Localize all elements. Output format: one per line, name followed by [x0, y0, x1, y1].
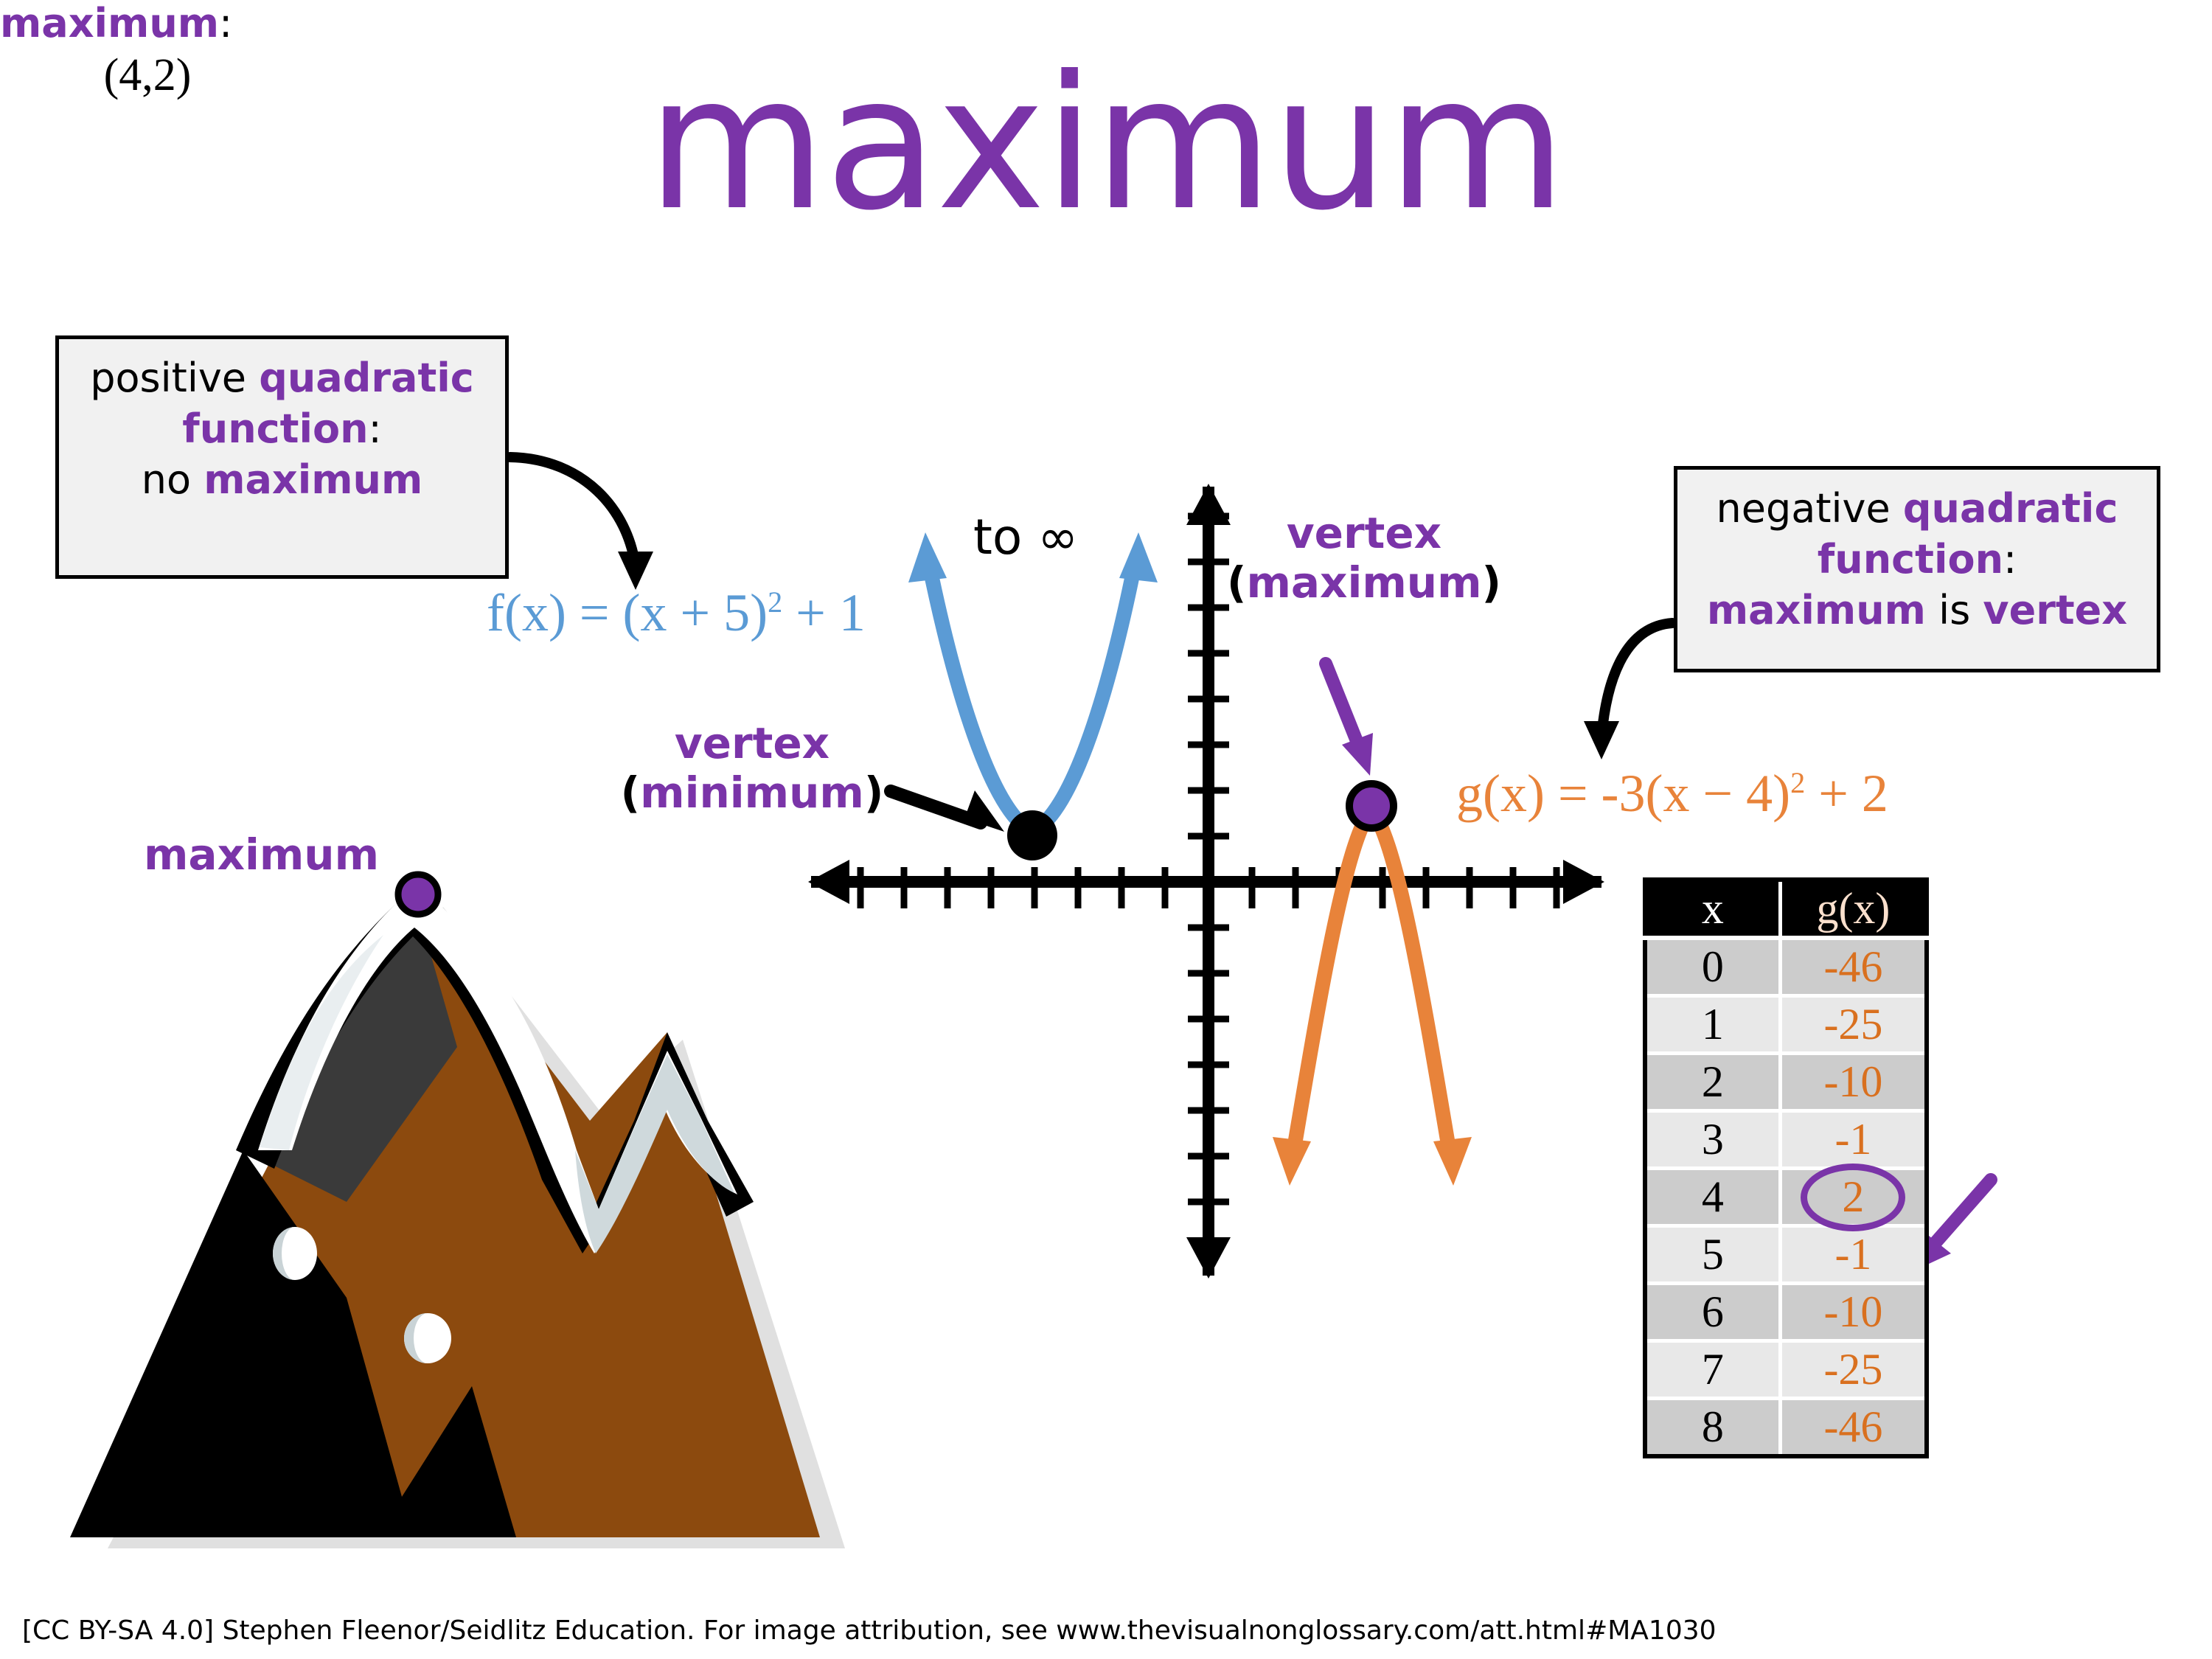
- poster-canvas: maximum positive quadratic function: no …: [0, 0, 2212, 1659]
- callout-right-line1-bold: quadratic: [1903, 485, 2118, 532]
- vertex-max-line1: vertex: [1287, 508, 1441, 558]
- page-title: maximum: [0, 52, 2212, 236]
- vertex-minimum-label: vertex (minimum): [597, 719, 907, 817]
- vertex-min-paren-open: (: [621, 768, 641, 818]
- vertex-max-arrow-icon: [1326, 664, 1373, 776]
- table-cell-gx: -10: [1780, 1284, 1927, 1341]
- table-row: 1-25: [1645, 996, 1927, 1054]
- f-equation-exponent: 2: [768, 585, 782, 619]
- vertex-maximum-label: vertex (maximum): [1209, 509, 1519, 607]
- table-cell-gx: -25: [1780, 996, 1927, 1054]
- vertex-min-paren-close: ): [864, 768, 884, 818]
- f-equation-suffix: + 1: [782, 583, 866, 642]
- table-cell-x: 4: [1645, 1169, 1780, 1226]
- table-cell-gx: -1: [1780, 1226, 1927, 1284]
- callout-right-line3-bold-b: vertex: [1983, 587, 2127, 633]
- table-cell-x: 5: [1645, 1226, 1780, 1284]
- callout-left-line3-plain: no: [142, 456, 204, 503]
- vertex-max-word: maximum: [1246, 557, 1481, 608]
- callout-right-arrow-icon: [1584, 623, 1672, 759]
- table-cell-x: 2: [1645, 1054, 1780, 1111]
- callout-left-arrow-icon: [510, 457, 653, 590]
- parabola-f-curve: [908, 532, 1158, 860]
- table-row: 0-46: [1645, 938, 1927, 996]
- table-cell-gx: -46: [1780, 938, 1927, 996]
- table-cell-x: 6: [1645, 1284, 1780, 1341]
- table-cell-x: 8: [1645, 1399, 1780, 1457]
- to-infinity-label: to ∞: [973, 509, 1078, 566]
- highlighted-maximum-value: 2: [1842, 1172, 1864, 1222]
- table-row: 2-10: [1645, 1054, 1927, 1111]
- table-cell-gx: -25: [1780, 1341, 1927, 1399]
- callout-right-line1-plain: negative: [1717, 485, 1903, 532]
- table-cell-x: 1: [1645, 996, 1780, 1054]
- f-equation-label: f(x) = (x + 5)2 + 1: [487, 582, 866, 644]
- table-cell-gx: 2: [1780, 1169, 1927, 1226]
- callout-right-line2-bold: function: [1818, 536, 2003, 582]
- f-equation-prefix: f(x) = (x + 5): [487, 583, 768, 642]
- table-header-x: x: [1645, 880, 1780, 938]
- callout-negative-quadratic: negative quadratic function: maximum is …: [1674, 466, 2160, 672]
- vertex-min-line1: vertex: [675, 718, 829, 768]
- table-row: 8-46: [1645, 1399, 1927, 1457]
- vertex-max-paren-open: (: [1227, 557, 1247, 608]
- table-cell-x: 3: [1645, 1111, 1780, 1169]
- callout-right-line3-plain: is: [1926, 587, 1983, 633]
- g-equation-prefix: g(x) = -3(x − 4): [1456, 764, 1790, 823]
- parabola-g-curve: [1273, 784, 1472, 1186]
- table-cell-gx: -10: [1780, 1054, 1927, 1111]
- mountain-maximum-label: maximum: [144, 829, 379, 880]
- table-cell-x: 7: [1645, 1341, 1780, 1399]
- callout-right-line3-bold-a: maximum: [1707, 587, 1926, 633]
- table-row: 7-25: [1645, 1341, 1927, 1399]
- table-max-colon: :: [219, 0, 232, 46]
- vertex-max-paren-close: ): [1482, 557, 1502, 608]
- callout-left-line2-bold: function: [182, 406, 368, 452]
- g-equation-suffix: + 2: [1805, 764, 1888, 823]
- gx-value-table: x g(x) 0-461-252-103-1425-16-107-258-46: [1643, 877, 1929, 1458]
- table-cell-gx: -1: [1780, 1111, 1927, 1169]
- callout-left-line1-plain: positive: [90, 355, 259, 401]
- callout-left-line1-bold: quadratic: [259, 355, 474, 401]
- table-header-row: x g(x): [1645, 880, 1927, 938]
- x-axis-ticks: [860, 867, 1557, 908]
- g-equation-label: g(x) = -3(x − 4)2 + 2: [1456, 763, 1888, 824]
- table-header-gx: g(x): [1780, 880, 1927, 938]
- table-body: 0-461-252-103-1425-16-107-258-46: [1645, 938, 1927, 1456]
- table-cell-gx: -46: [1780, 1399, 1927, 1457]
- vertex-min-arrow-icon: [891, 790, 1004, 832]
- vertex-min-word: minimum: [640, 768, 864, 818]
- table-max-word: maximum: [0, 0, 219, 46]
- table-row: 6-10: [1645, 1284, 1927, 1341]
- mountain-maximum-point: [398, 874, 438, 914]
- table-row: 3-1: [1645, 1111, 1927, 1169]
- y-axis-ticks: [1188, 516, 1229, 1202]
- callout-left-line3-bold: maximum: [204, 456, 422, 503]
- callout-right-line2-plain: :: [2003, 536, 2017, 582]
- g-equation-exponent: 2: [1790, 766, 1805, 799]
- mountain-illustration: [70, 885, 845, 1548]
- callout-left-line2-plain: :: [369, 406, 382, 452]
- callout-positive-quadratic: positive quadratic function: no maximum: [55, 335, 509, 579]
- table-cell-x: 0: [1645, 938, 1780, 996]
- attribution-text: [CC BY-SA 4.0] Stephen Fleenor/Seidlitz …: [22, 1615, 1717, 1646]
- table-row: 5-1: [1645, 1226, 1927, 1284]
- table-row: 42: [1645, 1169, 1927, 1226]
